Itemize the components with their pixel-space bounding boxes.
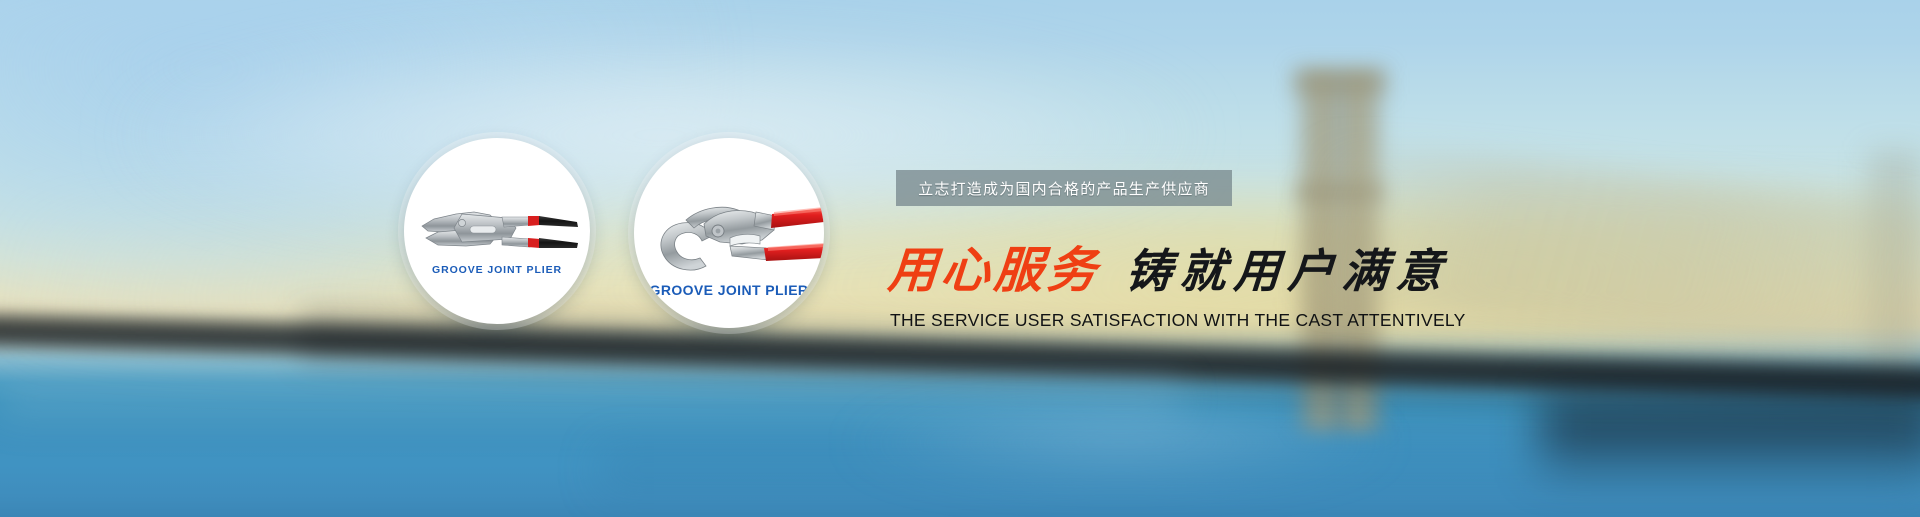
promo-banner: GROOVE JOINT PLIER <box>0 0 1920 517</box>
water-shadow-band <box>600 440 1920 500</box>
groove-joint-plier-red-handle-icon <box>634 138 824 328</box>
tagline-text: 立志打造成为国内合格的产品生产供应商 <box>918 178 1210 199</box>
slogan-secondary: 铸就用户满意 <box>1124 248 1451 294</box>
product-caption: GROOVE JOINT PLIER <box>634 282 824 298</box>
slogan-english-subtitle: THE SERVICE USER SATISFACTION WITH THE C… <box>890 310 1466 331</box>
product-caption: GROOVE JOINT PLIER <box>404 264 590 276</box>
slogan-row: 用心服务 铸就用户满意 <box>888 246 1450 295</box>
product-circle-2[interactable]: GROOVE JOINT PLIER <box>634 138 824 328</box>
slogan-primary: 用心服务 <box>886 246 1101 295</box>
groove-joint-plier-black-handle-icon <box>404 138 590 324</box>
bridge-tower-top-crossbeam <box>1294 68 1386 94</box>
tagline-bar: 立志打造成为国内合格的产品生产供应商 <box>896 170 1232 206</box>
product-circle-1[interactable]: GROOVE JOINT PLIER <box>404 138 590 324</box>
